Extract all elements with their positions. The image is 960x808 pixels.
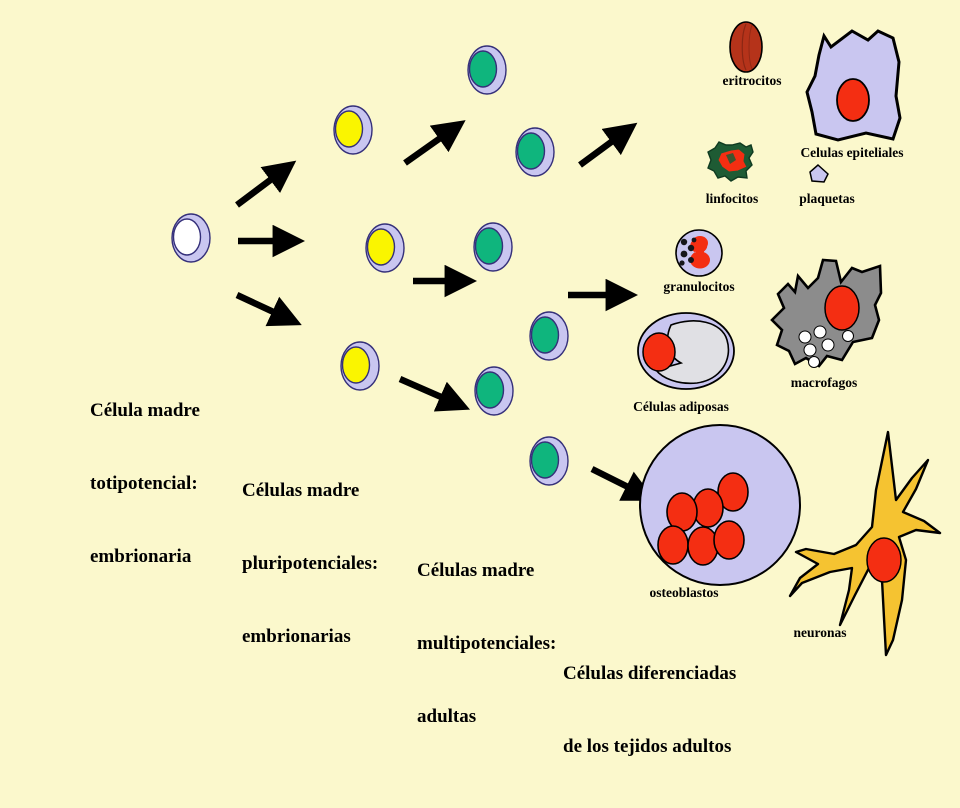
cell-label-osteoblastos: osteoblastos bbox=[649, 584, 718, 601]
stage-label-multipotent-line-1: Células madre bbox=[417, 559, 556, 583]
cell-multipotent-6 bbox=[530, 437, 568, 485]
epithelial-cell bbox=[807, 31, 900, 140]
adipocyte bbox=[638, 313, 734, 389]
cell-multipotent-2 bbox=[516, 128, 554, 176]
cell-label-celulas-adiposas: Células adiposas bbox=[633, 398, 729, 415]
cell-label-linfocitos: linfocitos bbox=[706, 190, 759, 207]
cell-multipotent-3 bbox=[474, 223, 512, 271]
granulocyte bbox=[676, 230, 722, 276]
stage-label-differentiated-line-1: Células diferenciadas bbox=[563, 662, 736, 686]
erythrocyte bbox=[730, 22, 762, 72]
stem-cell-differentiation-diagram: Célula madre totipotencial: embrionaria … bbox=[0, 0, 960, 720]
stage-label-multipotent-line-2: multipotenciales: bbox=[417, 632, 556, 656]
cell-pluripotent-3 bbox=[341, 342, 379, 390]
cell-pluripotent-1 bbox=[334, 106, 372, 154]
cell-label-eritrocitos: eritrocitos bbox=[723, 72, 782, 89]
cell-totipotent bbox=[172, 214, 210, 262]
stage-label-pluripotent-line-1: Células madre bbox=[242, 479, 378, 503]
cell-label-macrofagos: macrofagos bbox=[791, 374, 858, 391]
stage-label-totipotent: Célula madre totipotencial: embrionaria bbox=[90, 350, 200, 617]
stage-label-differentiated-line-2: de los tejidos adultos bbox=[563, 735, 736, 759]
cell-label-celulas-epiteliales: Celulas epiteliales bbox=[800, 144, 903, 161]
stage-label-totipotent-line-1: Célula madre bbox=[90, 399, 200, 423]
cell-multipotent-5 bbox=[475, 367, 513, 415]
stage-label-differentiated: Células diferenciadas de los tejidos adu… bbox=[563, 613, 736, 808]
stage-label-pluripotent-line-3: embrionarias bbox=[242, 625, 378, 649]
stage-label-totipotent-line-2: totipotencial: bbox=[90, 472, 200, 496]
cell-label-granulocitos: granulocitos bbox=[663, 278, 734, 295]
stage-label-multipotent-line-3: adultas bbox=[417, 705, 556, 729]
osteoblast-cluster bbox=[640, 425, 800, 585]
cell-pluripotent-2 bbox=[366, 224, 404, 272]
stage-label-pluripotent-line-2: pluripotenciales: bbox=[242, 552, 378, 576]
cell-label-plaquetas: plaquetas bbox=[799, 190, 855, 207]
cell-multipotent-1 bbox=[468, 46, 506, 94]
stage-label-pluripotent: Células madre pluripotenciales: embriona… bbox=[242, 430, 378, 697]
cell-label-neuronas: neuronas bbox=[793, 624, 846, 641]
cell-multipotent-4 bbox=[530, 312, 568, 360]
stage-label-totipotent-line-3: embrionaria bbox=[90, 545, 200, 569]
stage-label-multipotent: Células madre multipotenciales: adultas bbox=[417, 510, 556, 777]
